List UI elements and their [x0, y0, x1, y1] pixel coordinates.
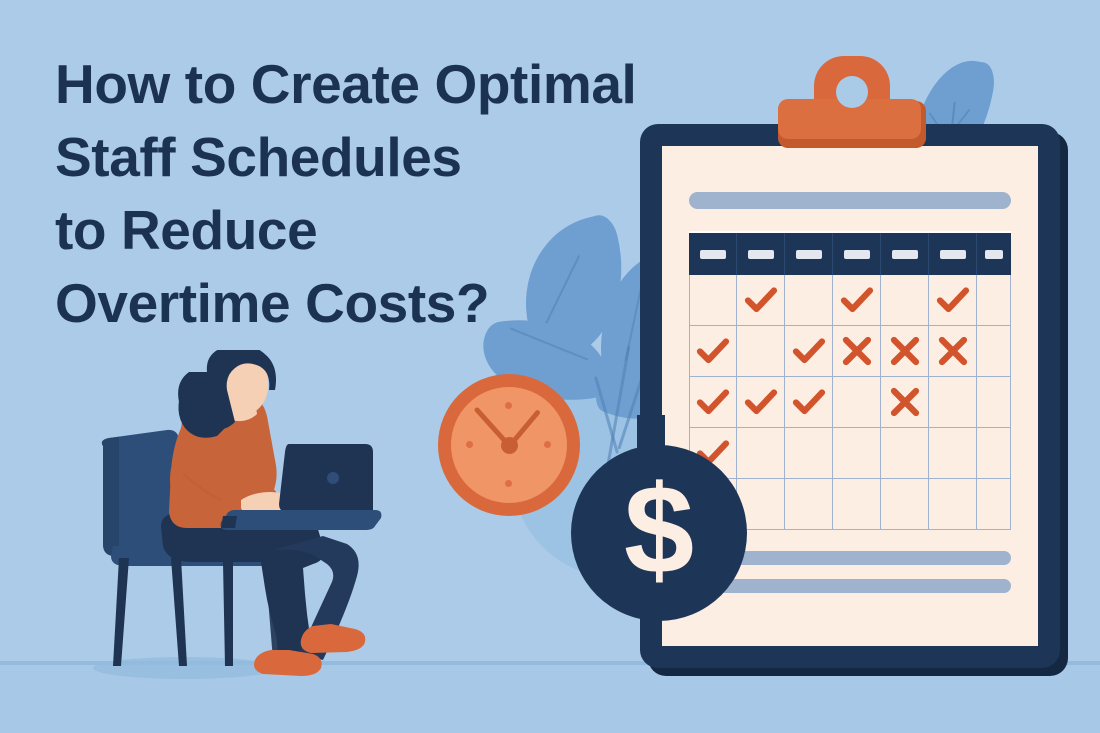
- check-icon: [840, 283, 874, 317]
- schedule-cell-r3c7[interactable]: [977, 377, 1011, 428]
- schedule-header-cell-4[interactable]: [833, 233, 881, 275]
- schedule-cell-r1c5[interactable]: [881, 275, 929, 326]
- check-icon: [936, 283, 970, 317]
- schedule-cell-r1c4[interactable]: [833, 275, 881, 326]
- schedule-cell-r2c5[interactable]: [881, 326, 929, 377]
- schedule-cell-r2c4[interactable]: [833, 326, 881, 377]
- check-icon: [792, 385, 826, 419]
- schedule-cell-r3c3[interactable]: [785, 377, 833, 428]
- schedule-header-cell-7[interactable]: [977, 233, 1011, 275]
- schedule-cell-r5c7[interactable]: [977, 479, 1011, 530]
- cross-icon: [936, 334, 970, 368]
- schedule-row: [689, 326, 1011, 377]
- shoe-front: [301, 624, 366, 653]
- schedule-cell-r1c7[interactable]: [977, 275, 1011, 326]
- schedule-cell-r3c2[interactable]: [737, 377, 785, 428]
- schedule-cell-r1c2[interactable]: [737, 275, 785, 326]
- schedule-cell-r4c3[interactable]: [785, 428, 833, 479]
- schedule-row: [689, 377, 1011, 428]
- schedule-row: [689, 275, 1011, 326]
- schedule-cell-r3c4[interactable]: [833, 377, 881, 428]
- illustration-canvas: How to Create Optimal Staff Schedules to…: [0, 0, 1100, 733]
- person-working-on-laptop-icon: [75, 350, 415, 710]
- clock-tick-3: [544, 441, 551, 448]
- schedule-cell-r2c7[interactable]: [977, 326, 1011, 377]
- schedule-cell-r2c6[interactable]: [929, 326, 977, 377]
- schedule-cell-r2c1[interactable]: [689, 326, 737, 377]
- schedule-cell-r4c7[interactable]: [977, 428, 1011, 479]
- schedule-cell-r3c6[interactable]: [929, 377, 977, 428]
- document-title-bar: [689, 192, 1011, 209]
- clock-tick-12: [505, 402, 512, 409]
- laptop-screen: [279, 444, 373, 512]
- schedule-header-cell-3[interactable]: [785, 233, 833, 275]
- chair-leg-back-left: [113, 558, 129, 666]
- schedule-cell-r5c4[interactable]: [833, 479, 881, 530]
- chair-leg-front-left: [223, 562, 233, 666]
- schedule-cell-r4c5[interactable]: [881, 428, 929, 479]
- header-pill: [844, 250, 870, 259]
- schedule-header-cell-5[interactable]: [881, 233, 929, 275]
- coin-dollar-symbol: $: [571, 445, 747, 621]
- page-title: How to Create Optimal Staff Schedules to…: [55, 48, 675, 341]
- header-pill: [892, 250, 918, 259]
- schedule-header-row: [689, 231, 1011, 275]
- check-icon: [696, 334, 730, 368]
- schedule-cell-r1c6[interactable]: [929, 275, 977, 326]
- schedule-cell-r5c6[interactable]: [929, 479, 977, 530]
- clock-tick-6: [505, 480, 512, 487]
- schedule-cell-r5c3[interactable]: [785, 479, 833, 530]
- laptop-hinge: [221, 516, 237, 528]
- schedule-cell-r5c5[interactable]: [881, 479, 929, 530]
- check-icon: [792, 334, 826, 368]
- chair-back-edge: [102, 437, 119, 556]
- wall-clock-icon: [438, 374, 580, 516]
- schedule-header-cell-2[interactable]: [737, 233, 785, 275]
- clock-center-hub: [501, 437, 518, 454]
- schedule-cell-r2c2[interactable]: [737, 326, 785, 377]
- schedule-cell-r4c4[interactable]: [833, 428, 881, 479]
- shoe-back: [254, 650, 322, 676]
- schedule-cell-r3c5[interactable]: [881, 377, 929, 428]
- clipboard-clip: [778, 56, 926, 148]
- schedule-header-cell-6[interactable]: [929, 233, 977, 275]
- clock-tick-9: [466, 441, 473, 448]
- schedule-cell-r1c3[interactable]: [785, 275, 833, 326]
- header-pill: [748, 250, 774, 259]
- check-icon: [744, 283, 778, 317]
- cross-icon: [888, 385, 922, 419]
- header-pill: [940, 250, 966, 259]
- cross-icon: [888, 334, 922, 368]
- header-pill: [700, 250, 726, 259]
- clip-hole: [836, 76, 868, 108]
- chair-leg-back-right: [171, 558, 187, 666]
- schedule-cell-r2c3[interactable]: [785, 326, 833, 377]
- schedule-cell-r3c1[interactable]: [689, 377, 737, 428]
- check-icon: [696, 385, 730, 419]
- check-icon: [744, 385, 778, 419]
- dollar-coin-icon: $: [571, 445, 747, 621]
- header-pill: [796, 250, 822, 259]
- schedule-cell-r4c6[interactable]: [929, 428, 977, 479]
- schedule-cell-r1c1[interactable]: [689, 275, 737, 326]
- header-pill: [985, 250, 1003, 259]
- laptop-base: [221, 510, 382, 530]
- cross-icon: [840, 334, 874, 368]
- schedule-header-cell-1[interactable]: [689, 233, 737, 275]
- laptop-logo: [327, 472, 339, 484]
